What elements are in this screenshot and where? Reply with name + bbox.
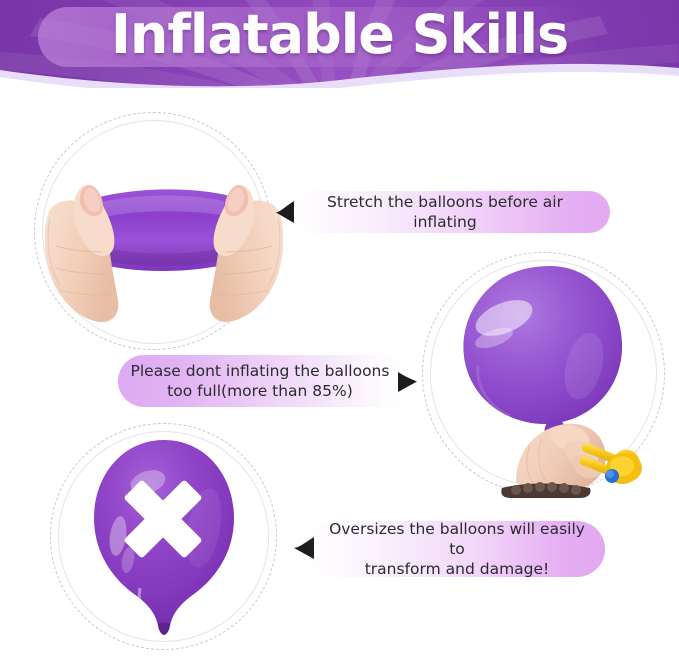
callout-stretch-line-1: Stretch the balloons before air inflatin… <box>294 192 596 232</box>
callout-dont-overinflate-line-1: Please dont inflating the balloons <box>131 361 390 381</box>
oversized-balloon-x-mark-photo <box>66 432 262 644</box>
callout-oversize-warning: Oversizes the balloons will easily to tr… <box>305 521 605 577</box>
callout-oversize-warning-line-1: Oversizes the balloons will easily to <box>321 519 593 559</box>
right-triangle-arrow-2 <box>396 370 418 394</box>
hand-pump-inflated-balloon-photo <box>432 256 660 498</box>
page-header: Inflatable Skills <box>0 0 679 88</box>
infographic-page: Inflatable Skills <box>0 0 679 667</box>
header-wave-divider <box>0 52 679 88</box>
hands-stretching-balloon-photo <box>40 162 288 330</box>
callout-dont-overinflate: Please dont inflating the balloons too f… <box>118 355 418 407</box>
callout-dont-overinflate-line-2: too full(more than 85%) <box>131 381 390 401</box>
callout-oversize-warning-line-2: transform and damage! <box>321 559 593 579</box>
callout-stretch: Stretch the balloons before air inflatin… <box>290 191 610 233</box>
